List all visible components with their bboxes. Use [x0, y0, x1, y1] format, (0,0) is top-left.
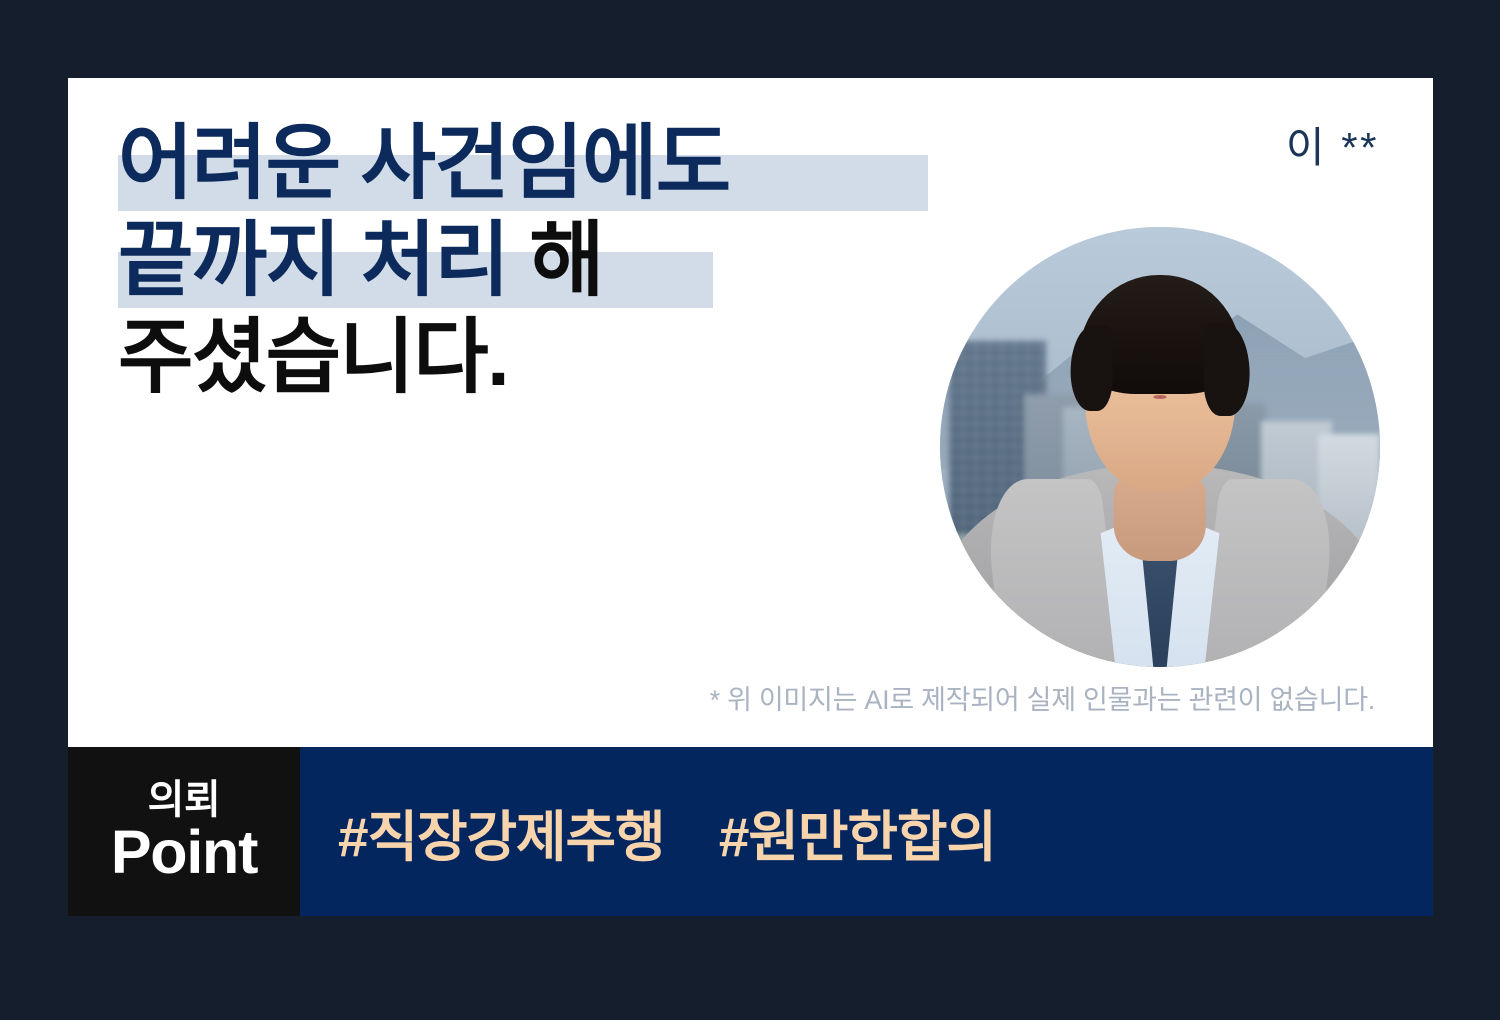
hashtag-item-2: #원만한합의 — [719, 806, 996, 868]
headline-line-3-text: 주셨습니다. — [118, 312, 508, 403]
client-name-label: 이 ** — [1286, 114, 1379, 175]
logo-english-text: Point — [111, 822, 257, 883]
logo-block: 의뢰 Point — [68, 747, 300, 916]
logo-korean-text: 의뢰 — [148, 780, 221, 820]
headline-line-3: 주셨습니다. — [118, 310, 948, 407]
headline-line-2-plain-text: 해 — [508, 215, 603, 306]
promo-card-canvas: 이 ** 어려운 사건임에도 끝까지 처리 해 주셨습니다. — [0, 0, 1500, 1020]
portrait-photo — [940, 227, 1380, 667]
headline-line-1-text: 어려운 사건임에도 — [118, 118, 730, 209]
headline-line-2: 끝까지 처리 해 — [118, 213, 948, 310]
headline-line-1: 어려운 사건임에도 — [118, 116, 948, 213]
hair — [1079, 275, 1242, 394]
white-card: 이 ** 어려운 사건임에도 끝까지 처리 해 주셨습니다. — [68, 78, 1433, 747]
hashtag-bar: #직장강제추행 #원만한합의 — [300, 747, 1433, 916]
headline-block: 어려운 사건임에도 끝까지 처리 해 주셨습니다. — [118, 116, 948, 406]
mouth — [1153, 395, 1166, 399]
hashtag-item-1: #직장강제추행 — [338, 806, 665, 868]
hashtag-list: #직장강제추행 #원만한합의 — [338, 792, 996, 872]
ai-image-disclaimer: * 위 이미지는 AI로 제작되어 실제 인물과는 관련이 없습니다. — [710, 678, 1375, 717]
portrait-avatar — [940, 227, 1380, 667]
headline-line-2-highlighted-text: 끝까지 처리 — [118, 215, 508, 306]
